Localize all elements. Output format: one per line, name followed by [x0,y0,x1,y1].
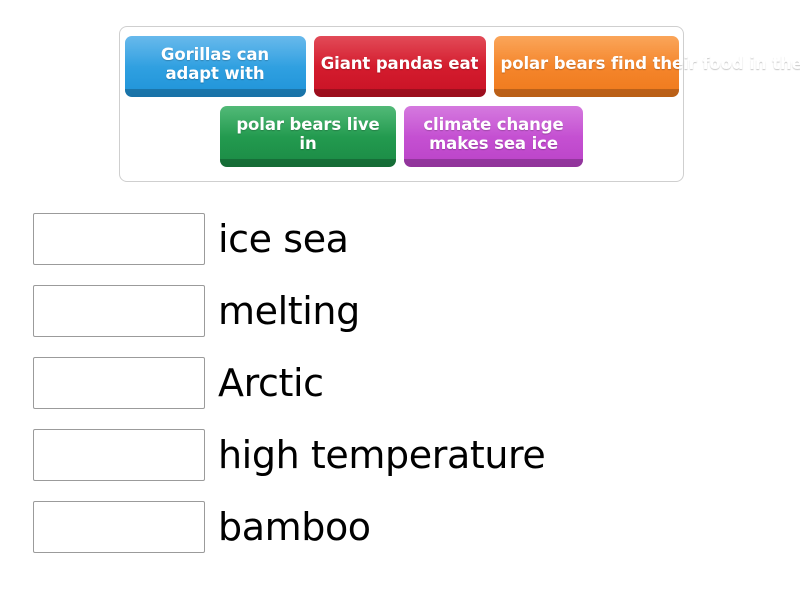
answer-label-high-temperature: high temperature [218,436,545,474]
tile-label: climate change makes sea ice [411,115,576,154]
tile-bank-row-1: Gorillas can adapt with Giant pandas eat… [120,36,683,97]
answer-label-arctic: Arctic [218,364,324,402]
draggable-tile-bank: Gorillas can adapt with Giant pandas eat… [119,26,684,182]
answer-row-melting: melting [33,285,773,337]
draggable-tile-gorillas[interactable]: Gorillas can adapt with [125,36,306,97]
draggable-tile-polar-bears-food[interactable]: polar bears find their food in the [494,36,679,97]
answer-row-high-temperature: high temperature [33,429,773,481]
answer-row-arctic: Arctic [33,357,773,409]
tile-bank-row-2: polar bears live in climate change makes… [120,106,683,167]
tile-label: polar bears find their food in the [501,54,672,73]
answer-row-bamboo: bamboo [33,501,773,553]
draggable-tile-giant-pandas[interactable]: Giant pandas eat [314,36,486,97]
answer-list: ice sea melting Arctic high temperature … [33,213,773,573]
drop-slot-bamboo[interactable] [33,501,205,553]
tile-label: Gorillas can adapt with [132,45,299,84]
drop-slot-ice-sea[interactable] [33,213,205,265]
answer-row-ice-sea: ice sea [33,213,773,265]
drop-slot-arctic[interactable] [33,357,205,409]
drop-slot-melting[interactable] [33,285,205,337]
answer-label-bamboo: bamboo [218,508,371,546]
answer-label-ice-sea: ice sea [218,220,349,258]
tile-label: polar bears live in [227,115,389,154]
activity-stage: Gorillas can adapt with Giant pandas eat… [0,0,800,600]
tile-label: Giant pandas eat [321,54,479,73]
answer-label-melting: melting [218,292,360,330]
draggable-tile-climate-change[interactable]: climate change makes sea ice [404,106,583,167]
draggable-tile-polar-bears-live[interactable]: polar bears live in [220,106,396,167]
drop-slot-high-temperature[interactable] [33,429,205,481]
